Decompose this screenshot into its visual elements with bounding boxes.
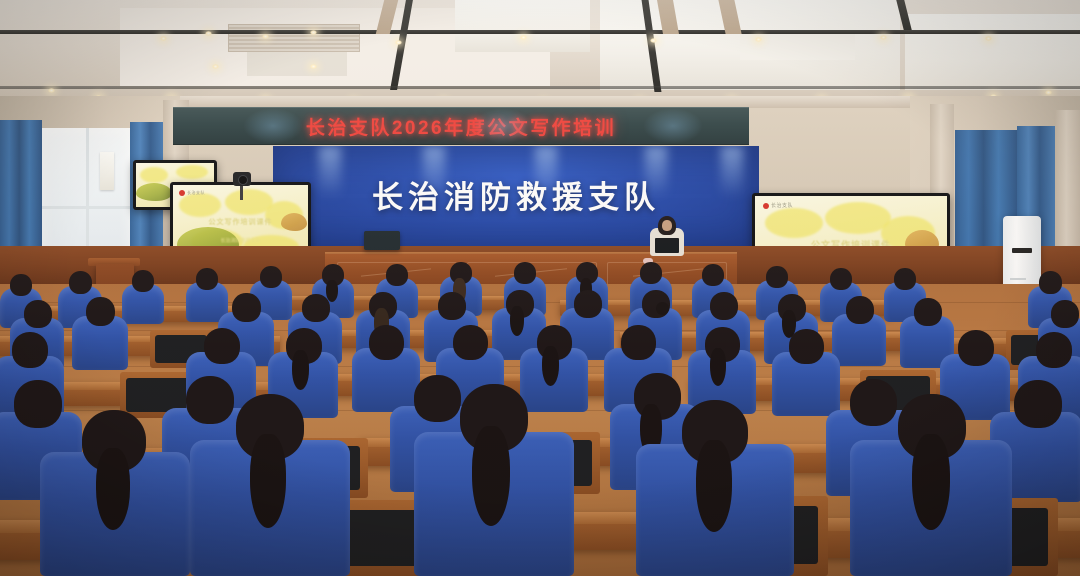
left-slide-title: 公文写作培训课件 <box>173 217 308 227</box>
ceiling-vent <box>228 24 360 52</box>
slide-logo-text: 长治支队 <box>187 190 205 196</box>
slide-logo-icon <box>179 190 185 196</box>
led-banner-text: 长治支队2026年度公文写作培训 <box>306 113 616 140</box>
presenter-laptop <box>655 238 679 253</box>
ac-display <box>1012 248 1032 253</box>
main-projection-screen: 长治消防救援支队 <box>273 146 759 246</box>
wall-poster <box>100 152 114 190</box>
main-screen-title: 长治消防救援支队 <box>273 172 759 217</box>
rostrum-monitor <box>364 231 400 250</box>
left-slide-subtitle: 长治消防救援支队 <box>173 237 308 244</box>
right-slide-logo: 长治支队 <box>763 202 793 209</box>
led-banner: 长治支队2026年度公文写作培训 <box>173 107 749 145</box>
conference-room-photo: 长治支队2026年度公文写作培训 长治消防救援支队 <box>0 0 1080 576</box>
video-camera <box>233 172 251 186</box>
slide-logo: 长治支队 <box>179 190 205 196</box>
right-slide-logo-text: 长治支队 <box>771 202 793 209</box>
right-slide-logo-icon <box>763 203 769 209</box>
